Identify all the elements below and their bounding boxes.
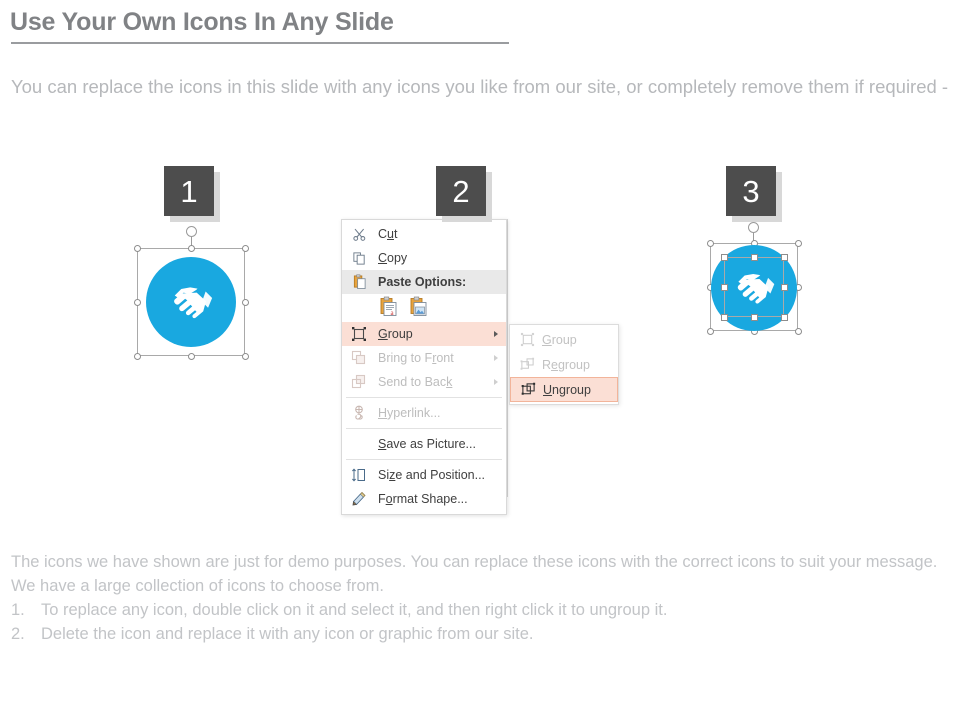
- slide-subtitle: You can replace the icons in this slide …: [11, 72, 957, 102]
- list-item-number: 1.: [11, 598, 41, 622]
- copy-icon: [350, 249, 368, 267]
- step-2-badge: 2: [436, 166, 486, 216]
- page-title: Use Your Own Icons In Any Slide: [10, 8, 394, 37]
- list-item: 2. Delete the icon and replace it with a…: [11, 622, 951, 646]
- send-to-back-icon: [350, 373, 368, 391]
- menu-separator: [346, 459, 502, 460]
- scissors-icon: [350, 225, 368, 243]
- inner-handle-top-left[interactable]: [721, 254, 728, 261]
- rotation-handle[interactable]: [748, 222, 759, 233]
- menu-item-hyperlink: Hyperlink...: [342, 401, 506, 425]
- handle-top-right[interactable]: [795, 240, 802, 247]
- menu-item-send-to-back: Send to Back: [342, 370, 506, 394]
- menu-item-save-as-picture[interactable]: Save as Picture...: [342, 432, 506, 456]
- group-submenu[interactable]: Group Regroup Ungroup: [509, 324, 619, 405]
- menu-item-label: Group: [378, 327, 413, 341]
- menu-item-bring-to-front: Bring to Front: [342, 346, 506, 370]
- size-position-icon: [350, 466, 368, 484]
- handshake-icon[interactable]: [146, 257, 236, 347]
- handle-middle-right[interactable]: [242, 299, 249, 306]
- selection-bounding-box-inner[interactable]: [724, 257, 784, 317]
- footer-paragraph: The icons we have shown are just for dem…: [11, 550, 951, 598]
- context-menu[interactable]: Cut Copy Paste Options: a: [341, 219, 507, 515]
- list-item: 1. To replace any icon, double click on …: [11, 598, 951, 622]
- step-3-badge: 3: [726, 166, 776, 216]
- step-1-badge: 1: [164, 166, 214, 216]
- menu-vertical-divider: [507, 219, 508, 497]
- submenu-item-group: Group: [510, 327, 618, 352]
- menu-item-size-and-position[interactable]: Size and Position...: [342, 463, 506, 487]
- handle-top-left[interactable]: [134, 245, 141, 252]
- rotation-handle[interactable]: [186, 226, 197, 237]
- menu-item-label: Send to Back: [378, 375, 452, 389]
- menu-item-label: Paste Options:: [378, 275, 466, 289]
- group-icon: [518, 331, 536, 349]
- menu-item-label: Cut: [378, 227, 397, 241]
- menu-item-paste-options: Paste Options:: [342, 270, 506, 294]
- inner-handle-middle-right[interactable]: [781, 284, 788, 291]
- badge-number: 2: [436, 166, 486, 216]
- chevron-right-icon: [494, 379, 498, 385]
- submenu-item-label: Group: [542, 333, 577, 347]
- ungroup-icon: [519, 381, 537, 399]
- submenu-item-label: Regroup: [542, 358, 590, 372]
- list-item-number: 2.: [11, 622, 41, 646]
- menu-item-label: Copy: [378, 251, 407, 265]
- bring-to-front-icon: [350, 349, 368, 367]
- submenu-item-label: Ungroup: [543, 383, 591, 397]
- menu-item-cut[interactable]: Cut: [342, 222, 506, 246]
- title-underline: [11, 42, 509, 44]
- clipboard-icon: [350, 273, 368, 291]
- menu-item-label: Size and Position...: [378, 468, 485, 482]
- handle-top-left[interactable]: [707, 240, 714, 247]
- inner-handle-bottom-right[interactable]: [781, 314, 788, 321]
- paste-options-buttons[interactable]: a: [342, 294, 506, 322]
- menu-item-label: Save as Picture...: [378, 437, 476, 451]
- menu-separator: [346, 397, 502, 398]
- handle-bottom-right[interactable]: [242, 353, 249, 360]
- menu-item-format-shape[interactable]: Format Shape...: [342, 487, 506, 511]
- group-icon: [350, 325, 368, 343]
- submenu-item-regroup: Regroup: [510, 352, 618, 377]
- menu-item-label: Hyperlink...: [378, 406, 441, 420]
- inner-handle-bottom-center[interactable]: [751, 314, 758, 321]
- regroup-icon: [518, 356, 536, 374]
- submenu-item-ungroup[interactable]: Ungroup: [510, 377, 618, 402]
- menu-item-label: Bring to Front: [378, 351, 454, 365]
- handle-top-center[interactable]: [188, 245, 195, 252]
- inner-handle-middle-left[interactable]: [721, 284, 728, 291]
- handle-top-right[interactable]: [242, 245, 249, 252]
- hyperlink-icon: [350, 404, 368, 422]
- handle-bottom-center[interactable]: [188, 353, 195, 360]
- badge-number: 1: [164, 166, 214, 216]
- inner-handle-top-right[interactable]: [781, 254, 788, 261]
- handle-bottom-left[interactable]: [134, 353, 141, 360]
- format-shape-icon: [350, 490, 368, 508]
- menu-item-label: Format Shape...: [378, 492, 468, 506]
- inner-handle-bottom-left[interactable]: [721, 314, 728, 321]
- paste-keep-source-formatting-icon[interactable]: a: [378, 296, 398, 320]
- menu-item-group[interactable]: Group: [342, 322, 506, 346]
- inner-handle-top-center[interactable]: [751, 254, 758, 261]
- menu-separator: [346, 428, 502, 429]
- chevron-right-icon: [494, 355, 498, 361]
- list-item-text: Delete the icon and replace it with any …: [41, 622, 534, 646]
- footer-text: The icons we have shown are just for dem…: [11, 550, 951, 646]
- menu-item-copy[interactable]: Copy: [342, 246, 506, 270]
- paste-picture-icon[interactable]: [408, 296, 428, 320]
- badge-number: 3: [726, 166, 776, 216]
- handle-middle-left[interactable]: [134, 299, 141, 306]
- handle-bottom-left[interactable]: [707, 328, 714, 335]
- handle-bottom-right[interactable]: [795, 328, 802, 335]
- list-item-text: To replace any icon, double click on it …: [41, 598, 667, 622]
- chevron-right-icon: [494, 331, 498, 337]
